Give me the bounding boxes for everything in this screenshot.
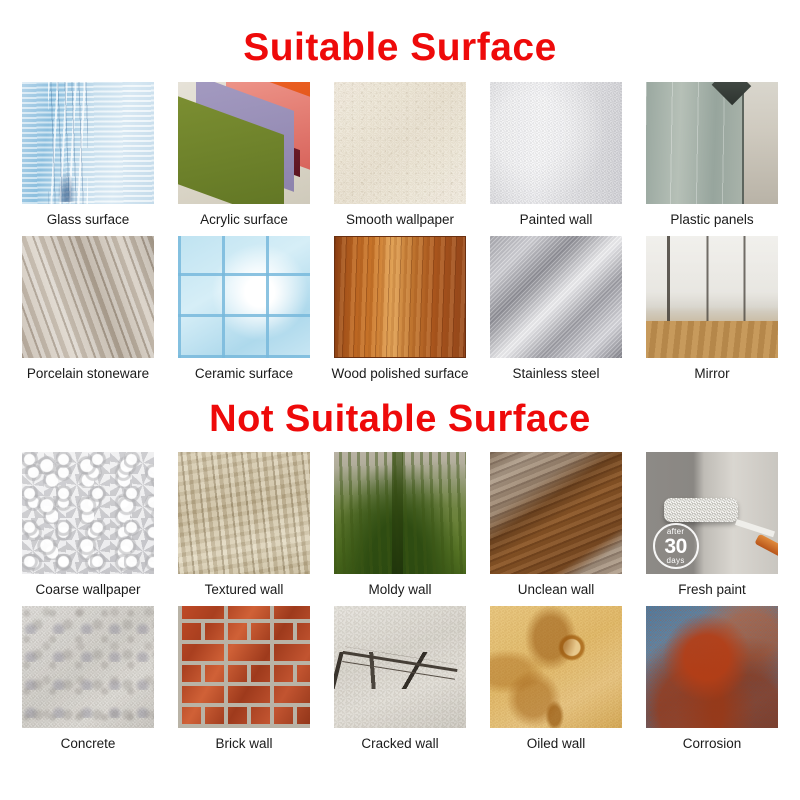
suitable-surface-heading: Suitable Surface — [0, 0, 800, 74]
surface-image-corrosion — [646, 606, 778, 728]
after-30-days-badge: after 30 days — [653, 523, 699, 569]
surface-image-smooth-wallpaper — [334, 82, 466, 204]
surface-image-concrete — [22, 606, 154, 728]
not-suitable-surface-heading: Not Suitable Surface — [0, 382, 800, 444]
badge-number: 30 — [664, 536, 686, 557]
suitable-surface-infographic: Suitable Surface Glass surface Acrylic s… — [0, 0, 800, 800]
paint-roller-grip — [754, 533, 778, 556]
surface-image-stainless-steel — [490, 236, 622, 358]
surface-label: Cracked wall — [361, 735, 438, 752]
surface-label: Porcelain stoneware — [27, 365, 149, 382]
surface-card-acrylic-surface[interactable]: Acrylic surface — [178, 82, 310, 228]
surface-label: Smooth wallpaper — [346, 211, 454, 228]
surface-card-porcelain-stoneware[interactable]: Porcelain stoneware — [22, 236, 154, 382]
surface-card-moldy-wall[interactable]: Moldy wall — [334, 452, 466, 598]
surface-card-smooth-wallpaper[interactable]: Smooth wallpaper — [334, 82, 466, 228]
surface-label: Plastic panels — [670, 211, 753, 228]
surface-card-brick-wall[interactable]: Brick wall — [178, 606, 310, 752]
surface-image-plastic-panels — [646, 82, 778, 204]
surface-label: Corrosion — [683, 735, 742, 752]
surface-image-textured-wall — [178, 452, 310, 574]
surface-image-moldy-wall — [334, 452, 466, 574]
surface-image-oiled-wall — [490, 606, 622, 728]
surface-label: Glass surface — [47, 211, 130, 228]
surface-card-painted-wall[interactable]: Painted wall — [490, 82, 622, 228]
surface-card-fresh-paint[interactable]: after 30 days Fresh paint — [646, 452, 778, 598]
surface-label: Concrete — [61, 735, 116, 752]
surface-label: Unclean wall — [518, 581, 595, 598]
surface-card-oiled-wall[interactable]: Oiled wall — [490, 606, 622, 752]
surface-card-wood-polished-surface[interactable]: Wood polished surface — [334, 236, 466, 382]
surface-card-cracked-wall[interactable]: Cracked wall — [334, 606, 466, 752]
paint-roller-handle — [735, 519, 775, 537]
surface-label: Textured wall — [205, 581, 284, 598]
surface-image-painted-wall — [490, 82, 622, 204]
surface-card-coarse-wallpaper[interactable]: Coarse wallpaper — [22, 452, 154, 598]
surface-label: Brick wall — [215, 735, 272, 752]
surface-card-mirror[interactable]: Mirror — [646, 236, 778, 382]
surface-label: Stainless steel — [512, 365, 599, 382]
paint-roller-icon — [664, 498, 738, 521]
badge-days-text: days — [667, 557, 685, 565]
surface-card-corrosion[interactable]: Corrosion — [646, 606, 778, 752]
surface-image-mirror — [646, 236, 778, 358]
surface-label: Wood polished surface — [331, 365, 468, 382]
surface-card-plastic-panels[interactable]: Plastic panels — [646, 82, 778, 228]
surface-image-wood-polished-surface — [334, 236, 466, 358]
suitable-surface-row-1: Glass surface Acrylic surface Smooth wal… — [0, 82, 800, 228]
not-suitable-surface-row-2: Concrete Brick wall Cracked wall Oiled w… — [0, 606, 800, 752]
surface-image-brick-wall — [178, 606, 310, 728]
surface-image-unclean-wall — [490, 452, 622, 574]
surface-label: Mirror — [694, 365, 729, 382]
surface-card-concrete[interactable]: Concrete — [22, 606, 154, 752]
surface-image-glass-surface — [22, 82, 154, 204]
surface-card-glass-surface[interactable]: Glass surface — [22, 82, 154, 228]
surface-image-fresh-paint: after 30 days — [646, 452, 778, 574]
surface-label: Painted wall — [520, 211, 593, 228]
surface-label: Fresh paint — [678, 581, 746, 598]
surface-label: Moldy wall — [368, 581, 431, 598]
surface-image-ceramic-surface — [178, 236, 310, 358]
suitable-surface-row-2: Porcelain stoneware Ceramic surface Wood… — [0, 236, 800, 382]
surface-image-acrylic-surface — [178, 82, 310, 204]
surface-image-cracked-wall — [334, 606, 466, 728]
surface-label: Acrylic surface — [200, 211, 288, 228]
surface-card-unclean-wall[interactable]: Unclean wall — [490, 452, 622, 598]
surface-card-textured-wall[interactable]: Textured wall — [178, 452, 310, 598]
surface-image-coarse-wallpaper — [22, 452, 154, 574]
surface-label: Coarse wallpaper — [35, 581, 140, 598]
not-suitable-surface-row-1: Coarse wallpaper Textured wall Moldy wal… — [0, 452, 800, 598]
surface-card-stainless-steel[interactable]: Stainless steel — [490, 236, 622, 382]
surface-image-porcelain-stoneware — [22, 236, 154, 358]
surface-label: Ceramic surface — [195, 365, 293, 382]
surface-label: Oiled wall — [527, 735, 586, 752]
surface-card-ceramic-surface[interactable]: Ceramic surface — [178, 236, 310, 382]
